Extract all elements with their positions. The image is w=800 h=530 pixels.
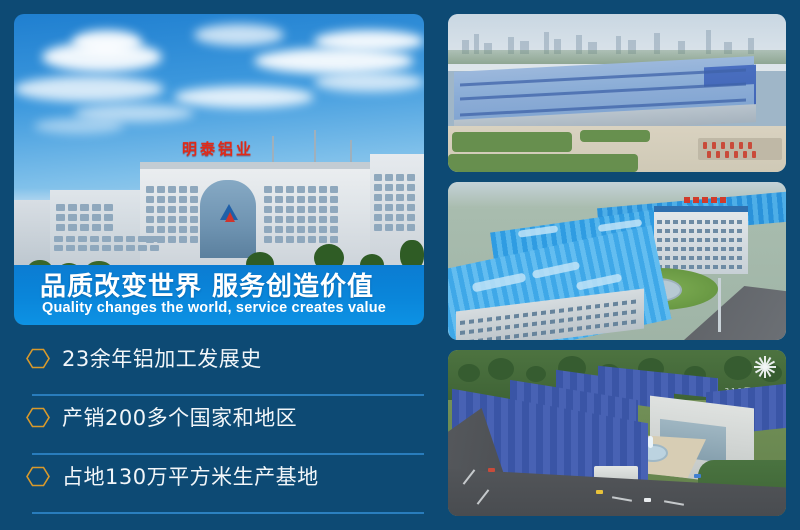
promotional-banner-page: 明泰铝业 bbox=[0, 0, 800, 530]
hexagon-icon bbox=[26, 348, 50, 369]
slogan-subline-en: Quality changes the world, service creat… bbox=[42, 300, 386, 316]
cloud-shape bbox=[14, 76, 164, 102]
roof-signage-text: 明泰铝业 bbox=[182, 138, 254, 159]
green-belt bbox=[452, 132, 572, 152]
vehicle bbox=[596, 490, 603, 494]
slogan-headline-cn: 品质改变世界 服务创造价值 bbox=[40, 266, 374, 303]
list-item[interactable]: 产销200多个国家和地区 bbox=[14, 396, 424, 455]
window-grid bbox=[54, 236, 159, 251]
hexagon-icon bbox=[26, 466, 50, 487]
cloud-shape bbox=[194, 24, 284, 46]
divider bbox=[32, 512, 424, 514]
vehicle bbox=[694, 474, 701, 478]
list-item[interactable]: 23余年铝加工发展史 bbox=[14, 337, 424, 396]
company-headquarters-photo[interactable]: 明泰铝业 bbox=[14, 14, 424, 325]
green-belt bbox=[448, 154, 638, 172]
window-grid bbox=[264, 186, 338, 243]
parking-lot bbox=[698, 138, 782, 160]
feature-label: 占地130万平方米生产基地 bbox=[62, 461, 319, 491]
cloud-shape bbox=[72, 30, 142, 54]
green-belt bbox=[580, 130, 650, 142]
company-logo-inner-icon bbox=[225, 212, 235, 222]
cloud-shape bbox=[314, 30, 424, 52]
cloud-shape bbox=[314, 72, 424, 92]
aerial-blue-roof-workshops[interactable] bbox=[448, 182, 786, 340]
cloud-shape bbox=[254, 48, 414, 74]
list-item[interactable]: 占地130万平方米生产基地 bbox=[14, 455, 424, 514]
cloud-shape bbox=[174, 86, 314, 108]
office-building bbox=[654, 212, 748, 274]
left-column: 明泰铝业 bbox=[14, 14, 424, 516]
feature-label: 23余年铝加工发展史 bbox=[62, 343, 262, 373]
fountain-jet bbox=[648, 436, 653, 448]
office-red-signage bbox=[684, 197, 726, 203]
roof-mast bbox=[272, 136, 274, 162]
sun-flare-icon bbox=[754, 356, 776, 378]
building-cornice bbox=[140, 162, 370, 169]
feature-label: 产销200多个国家和地区 bbox=[62, 402, 297, 432]
roof-mast bbox=[314, 130, 316, 162]
vehicle bbox=[644, 498, 651, 502]
right-column: 310国道 bbox=[448, 14, 786, 516]
slogan-banner: 品质改变世界 服务创造价值 Quality changes the world,… bbox=[14, 265, 424, 325]
hexagon-icon bbox=[26, 407, 50, 428]
flag-mast bbox=[718, 278, 721, 332]
vehicle bbox=[488, 468, 495, 472]
industrial-park-rendering[interactable]: 310国道 bbox=[448, 350, 786, 516]
cloud-shape bbox=[34, 118, 124, 134]
window-grid bbox=[56, 204, 113, 231]
window-grid bbox=[374, 174, 415, 231]
aerial-factory-wide-view[interactable] bbox=[448, 14, 786, 172]
feature-list: 23余年铝加工发展史 产销200多个国家和地区 占地130万 bbox=[14, 337, 424, 514]
window-grid bbox=[146, 186, 198, 243]
roof-mast bbox=[350, 140, 352, 162]
